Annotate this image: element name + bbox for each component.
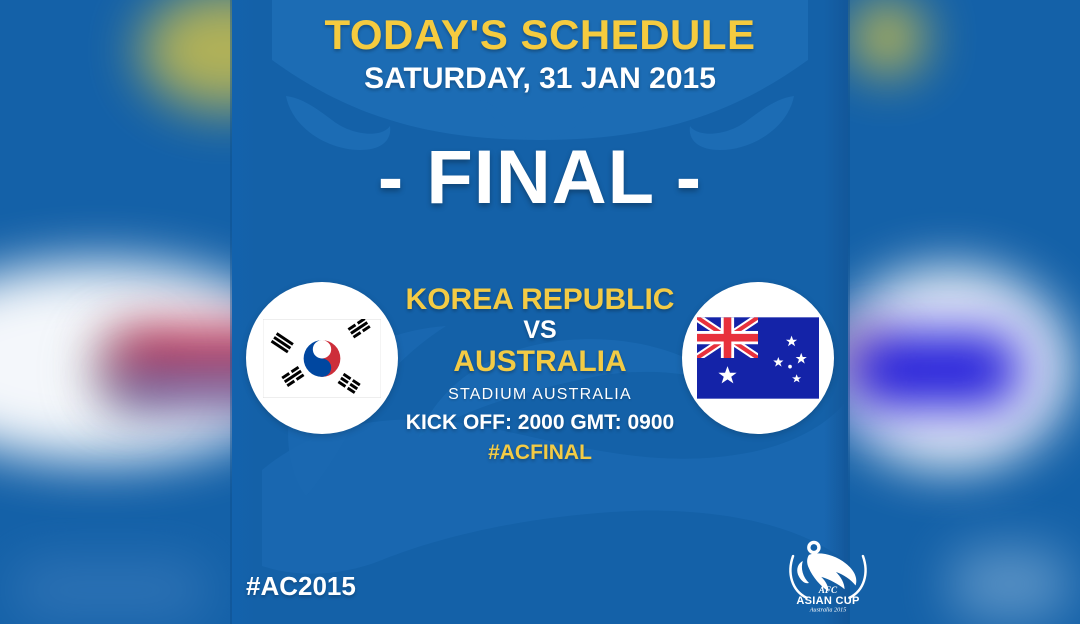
korea-republic-flag-icon [263,319,381,398]
match-hashtag: #ACFINAL [394,441,686,465]
backdrop-gold-blur-right [850,0,925,75]
venue-label: STADIUM AUSTRALIA [394,386,686,404]
schedule-title: TODAY'S SCHEDULE [232,14,848,57]
logo-edition-text: Australia 2015 [809,607,847,612]
match-row: KOREA REPUBLIC VS AUSTRALIA STADIUM AUST… [232,282,848,457]
poster-header: TODAY'S SCHEDULE SATURDAY, 31 JAN 2015 [232,14,848,96]
backdrop-blue-blur-right [850,332,1020,408]
stage-title: - FINAL - [232,134,848,221]
backdrop-foot-blur-right [950,548,1070,620]
logo-name-text: ASIAN CUP [796,595,859,607]
home-flag-badge [246,282,398,434]
backdrop-left [0,0,240,624]
match-details: KOREA REPUBLIC VS AUSTRALIA STADIUM AUST… [394,284,686,465]
home-team-name: KOREA REPUBLIC [394,284,686,315]
poster-canvas: TODAY'S SCHEDULE SATURDAY, 31 JAN 2015 -… [0,0,1080,624]
backdrop-foot-blur-left [10,560,210,620]
backdrop-blue-blur-left [110,372,240,406]
kickoff-label: KICK OFF: 2000 GMT: 0900 [394,411,686,435]
schedule-date: SATURDAY, 31 JAN 2015 [232,62,848,96]
backdrop-right [840,0,1080,624]
poster-panel: TODAY'S SCHEDULE SATURDAY, 31 JAN 2015 -… [232,0,848,624]
away-flag-badge [682,282,834,434]
away-team-name: AUSTRALIA [394,346,686,377]
asian-cup-logo-icon: AFC ASIAN CUP Australia 2015 [782,534,874,612]
versus-label: VS [394,316,686,345]
poster-hashtag: #AC2015 [246,571,356,602]
australia-flag-icon [697,317,819,399]
backdrop-gold-blur-left [140,0,240,110]
logo-afc-text: AFC [818,585,838,595]
